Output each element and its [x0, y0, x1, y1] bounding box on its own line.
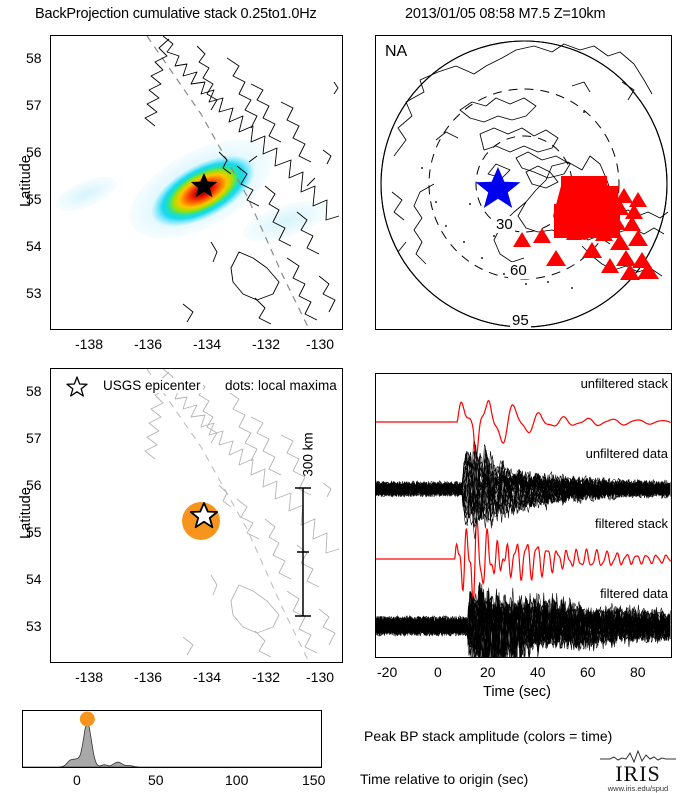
- plate-boundary-dashed: [147, 369, 309, 662]
- iris-wordmark: IRIS: [598, 764, 678, 784]
- stackmap-xtick-2: -134: [193, 336, 221, 352]
- maximamap-xtick-0: -138: [75, 669, 103, 685]
- amp-xtick-1: 50: [148, 772, 164, 788]
- stackmap-ytick-3: 55: [26, 191, 42, 207]
- region-label: NA: [385, 43, 407, 61]
- trace-label-unfiltered-data: unfiltered data: [585, 446, 669, 461]
- scale-bar-label: 300 km: [301, 410, 316, 500]
- waveform-xtick-5: 80: [630, 664, 646, 680]
- maximamap-xtick-4: -130: [306, 669, 334, 685]
- stackmap-ytick-0: 58: [26, 50, 42, 66]
- amplitude-curve: [23, 723, 321, 767]
- station-array-map[interactable]: NA 30 60 95: [375, 35, 672, 330]
- page-title-right: 2013/01/05 08:58 M7.5 Z=10km: [405, 6, 605, 22]
- iris-url: www.iris.edu/spud: [598, 784, 678, 793]
- trace-label-filtered-data: filtered data: [599, 586, 669, 601]
- maximamap-xtick-3: -132: [252, 669, 280, 685]
- waveform-xtick-4: 60: [580, 664, 596, 680]
- stackmap-xtick-3: -132: [252, 336, 280, 352]
- stackmap-ytick-2: 56: [26, 144, 42, 160]
- stackmap-xtick-1: -136: [134, 336, 162, 352]
- peak-amplitude-caption: Peak BP stack amplitude (colors = time): [364, 728, 612, 744]
- legend-local-maxima-label: dots: local maxima: [223, 378, 339, 393]
- maximamap-ytick-1: 57: [26, 430, 42, 446]
- local-maxima-map[interactable]: USGS epicenter dots: local maxima 300 km: [50, 368, 343, 663]
- peak-amplitude-xlabel: Time relative to origin (sec): [360, 771, 528, 787]
- waveform-xtick-1: 0: [434, 664, 442, 680]
- stackmap-xtick-4: -130: [306, 336, 334, 352]
- maximamap-xtick-2: -134: [193, 669, 221, 685]
- stackmap-xtick-0: -138: [75, 336, 103, 352]
- amp-xtick-2: 100: [225, 772, 248, 788]
- ring-label-60: 60: [508, 262, 529, 279]
- waveform-xtick-3: 40: [530, 664, 546, 680]
- ring-label-95: 95: [510, 312, 531, 329]
- maximamap-ytick-2: 56: [26, 477, 42, 493]
- waveform-xtick-2: 20: [480, 664, 496, 680]
- maximamap-ytick-5: 53: [26, 618, 42, 634]
- peak-amplitude-timeseries[interactable]: [22, 710, 322, 768]
- cumulative-stack-map[interactable]: [50, 35, 343, 330]
- maximamap-ytick-0: 58: [26, 383, 42, 399]
- stack-energy-blobs: [51, 119, 334, 259]
- trace-label-unfiltered-stack: unfiltered stack: [580, 376, 669, 391]
- waveform-xlabel: Time (sec): [483, 684, 551, 700]
- page-title-left: BackProjection cumulative stack 0.25to1.…: [35, 6, 317, 22]
- ring-label-30: 30: [494, 216, 515, 233]
- iris-logo[interactable]: IRIS www.iris.edu/spud: [598, 750, 678, 793]
- amp-xtick-3: 150: [302, 772, 325, 788]
- coastline: [392, 44, 668, 276]
- trace-label-filtered-stack: filtered stack: [594, 516, 669, 531]
- waveform-xtick-0: -20: [377, 664, 397, 680]
- epicenter-star-blue: [476, 167, 521, 208]
- stackmap-ytick-5: 53: [26, 285, 42, 301]
- amp-xtick-0: 0: [73, 772, 81, 788]
- peak-marker-dot: [80, 712, 95, 727]
- stackmap-ytick-4: 54: [26, 238, 42, 254]
- maximamap-ytick-4: 54: [26, 571, 42, 587]
- maximamap-ytick-3: 55: [26, 524, 42, 540]
- stackmap-ytick-1: 57: [26, 97, 42, 113]
- legend-star-icon: [65, 375, 89, 399]
- maximamap-xtick-1: -136: [134, 669, 162, 685]
- waveform-panel[interactable]: unfiltered stack unfiltered data filtere…: [375, 373, 672, 658]
- legend-usgs-epicenter-label: USGS epicenter: [101, 378, 203, 393]
